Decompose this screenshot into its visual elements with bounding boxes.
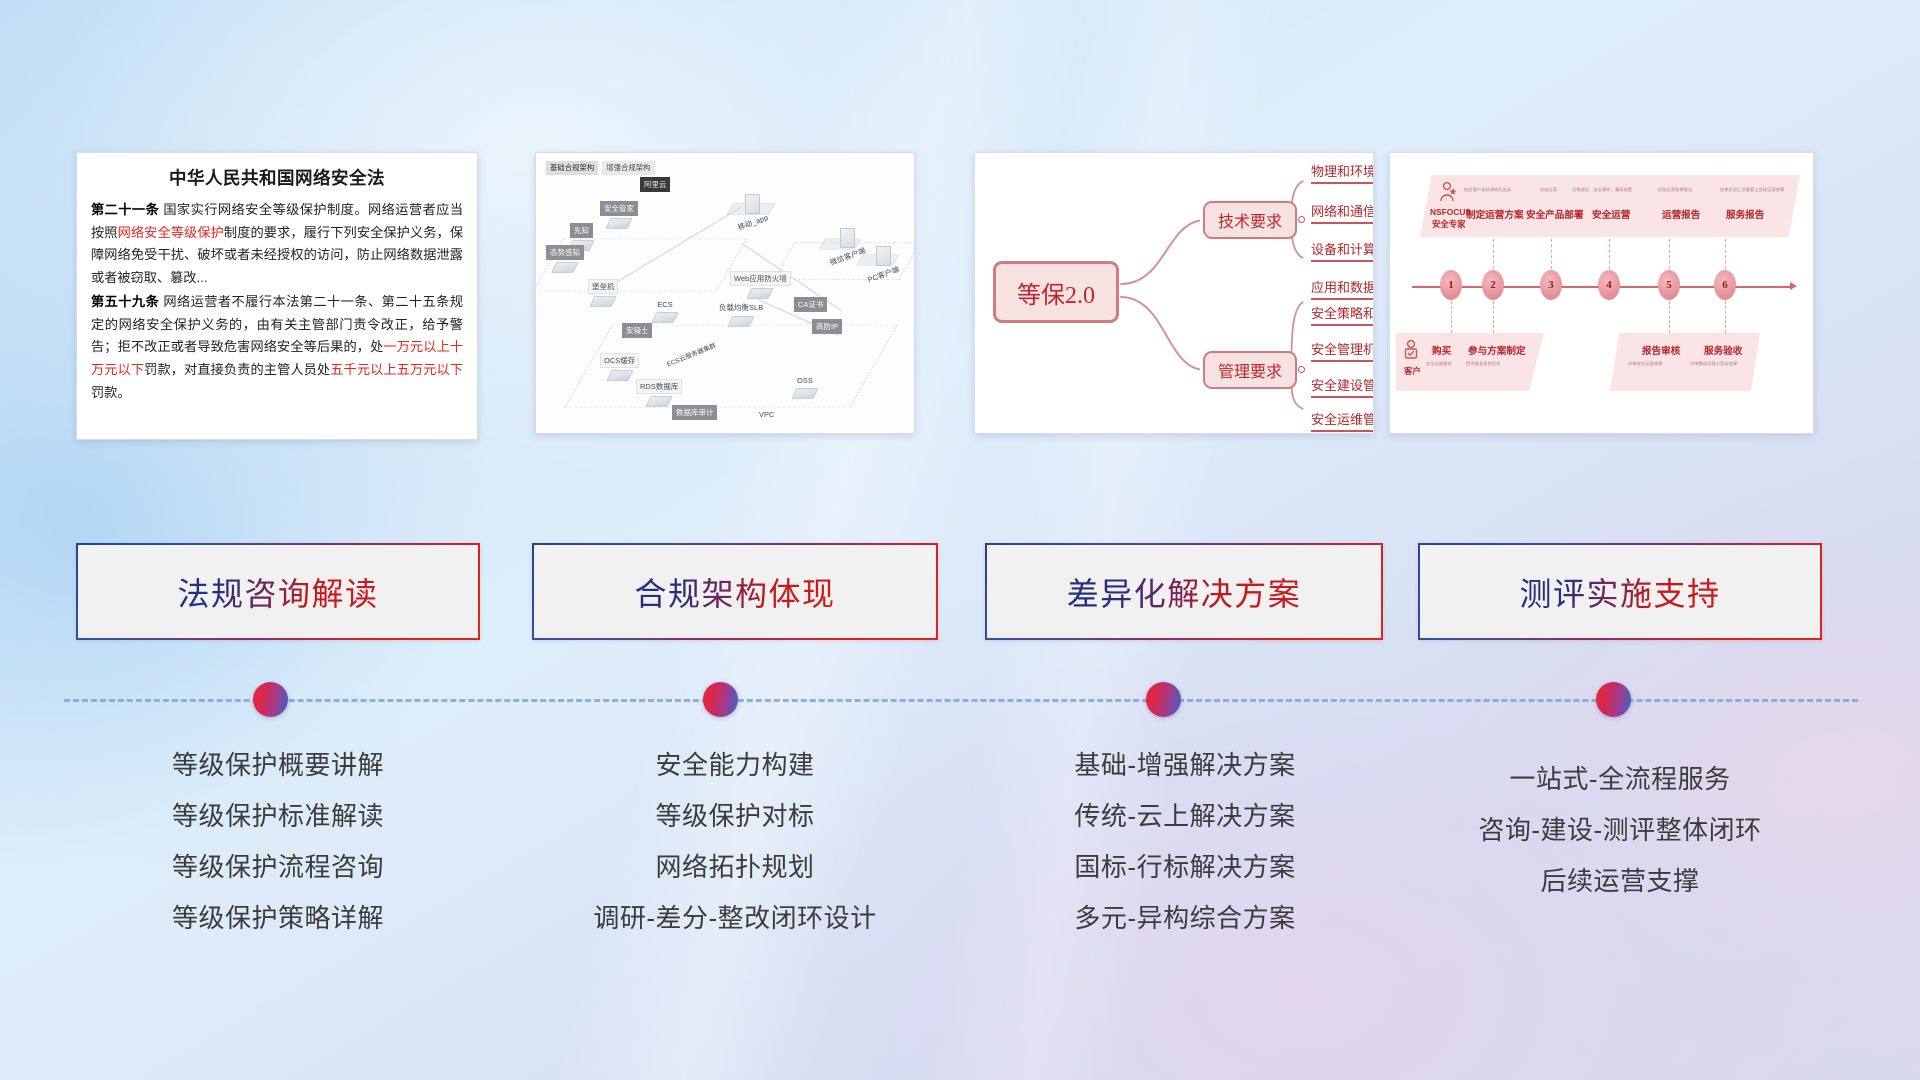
heading-label-2: 合规架构体现 <box>634 569 835 615</box>
nsfocus-step-sub-5-bottom: 评审安全运营效果 <box>1628 361 1662 367</box>
card-cybersecurity-law[interactable]: 中华人民共和国网络安全法 第二十一条 国家实行网络安全等级保护制度。网络运营者应… <box>76 152 478 440</box>
heading-box-differentiated-solution[interactable]: 差异化解决方案 <box>985 543 1383 640</box>
arch-label-aliyun: 阿里云 <box>640 177 670 192</box>
arch-label-waf: Web应用防火墙 <box>730 271 791 286</box>
nsfocus-step-sub-6-bottom: 评审整体运营方案及效果 <box>1690 361 1737 367</box>
arch-node-ecs-cluster: ECS云服务器集群 <box>662 349 720 360</box>
nsfocus-step-title-5-bottom: 报告审核 <box>1642 343 1680 357</box>
list-item: 等级保护标准解读 <box>68 791 488 842</box>
nsfocus-step-title-6-bottom: 服务验收 <box>1704 343 1742 357</box>
heading-box-regulation-consulting[interactable]: 法规咨询解读 <box>76 543 480 640</box>
arch-node-db-audit: 数据库审计 <box>672 405 717 420</box>
arch-node-anqishi: 安骑士 <box>622 323 652 338</box>
arch-label-situation-awareness: 态势感知 <box>546 245 584 260</box>
nsfocus-step-title-1-bottom: 购买 <box>1432 343 1451 357</box>
customer-avatar-icon <box>1402 339 1422 363</box>
expert-avatar-icon <box>1438 181 1458 203</box>
mindmap-leaf-tech-1: 物理和环境安全 <box>1311 161 1374 184</box>
law-paragraph-59: 第五十九条 网络运营者不履行本法第二十一条、第二十五条规定的网络安全保护义务的，… <box>91 291 463 405</box>
timeline-dot-4[interactable] <box>1596 682 1631 717</box>
law-seg-59-4: 罚款。 <box>91 385 131 400</box>
list-item: 调研-差分-整改闭环设计 <box>530 893 940 944</box>
nsfocus-provider-name: NSFOCUS <box>1430 207 1471 217</box>
cube-icon <box>728 316 755 327</box>
arch-node-waf: Web应用防火墙 <box>730 271 791 300</box>
nsfocus-tick-5-bottom <box>1669 301 1670 333</box>
nsfocus-timeline-diagram: NSFOCUS 安全专家 客户 结合客户现状调研后出具 制定运营方案 实施方案 … <box>1390 153 1813 433</box>
arch-node-pc-client: PC客户端 <box>864 245 903 281</box>
law-card-content: 中华人民共和国网络安全法 第二十一条 国家实行网络安全等级保护制度。网络运营者应… <box>77 153 477 413</box>
list-item: 等级保护对标 <box>530 791 940 842</box>
slide-canvas: 中华人民共和国网络安全法 第二十一条 国家实行网络安全等级保护制度。网络运营者应… <box>0 0 1920 1080</box>
nsfocus-step-marker-5[interactable]: 5 <box>1658 270 1680 300</box>
arch-node-security-butler: 安全管家 <box>600 201 638 230</box>
feature-list-compliance-architecture: 安全能力构建 等级保护对标 网络拓扑规划 调研-差分-整改闭环设计 <box>530 740 940 944</box>
list-item: 传统-云上解决方案 <box>980 791 1390 842</box>
arch-node-mobile-app: 移动_app <box>734 193 772 229</box>
architecture-diagram: 基础合规架构 增强合规架构 <box>536 153 914 433</box>
server-icon <box>745 194 760 214</box>
list-item: 网络拓扑规划 <box>530 842 940 893</box>
progress-timeline <box>0 682 1920 742</box>
arch-label-xianzhi: 先知 <box>570 223 593 238</box>
nsfocus-step-sub-5-top: 阶段运营效果报告 <box>1658 187 1692 193</box>
arch-node-rds: RDS数据库 <box>636 379 682 408</box>
nsfocus-step-title-2-bottom: 参与方案制定 <box>1468 343 1526 357</box>
timeline-dot-1[interactable] <box>253 682 288 717</box>
arch-label-oss: OSS <box>794 375 816 386</box>
mindmap-leaf-tech-3: 设备和计算安全 <box>1311 239 1374 262</box>
cube-icon <box>590 296 617 307</box>
nsfocus-step-title-5-top: 运营报告 <box>1662 207 1700 221</box>
feature-list-assessment-support: 一站式-全流程服务 咨询-建设-测评整体闭环 后续运营支撑 <box>1410 754 1830 907</box>
list-item: 咨询-建设-测评整体闭环 <box>1410 805 1830 856</box>
arch-node-bastion: 堡垒机 <box>588 279 618 308</box>
timeline-dashed-line <box>64 699 1858 702</box>
arch-node-anti-ddos-ip: 高防IP <box>812 319 842 334</box>
mindmap-collapse-dot-technical[interactable] <box>1298 216 1305 223</box>
heading-label-4: 测评实施支持 <box>1519 569 1720 615</box>
arch-node-ocs-cache: OCS缓存 <box>600 353 639 382</box>
reference-cards-row: 中华人民共和国网络安全法 第二十一条 国家实行网络安全等级保护制度。网络运营者应… <box>0 152 1920 442</box>
mindmap-root: 等保2.0 <box>993 261 1119 323</box>
arch-label-anqishi: 安骑士 <box>622 323 652 338</box>
card-compliance-architecture[interactable]: 基础合规架构 增强合规架构 <box>535 152 915 434</box>
mindmap-leaf-mgmt-3: 安全建设管理 <box>1311 375 1374 398</box>
arch-label-security-butler: 安全管家 <box>600 201 638 216</box>
law-body: 第二十一条 国家实行网络安全等级保护制度。网络运营者应当按照网络安全等级保护制度… <box>91 199 463 404</box>
server-icon <box>840 228 855 248</box>
nsfocus-tick-1-bottom <box>1451 301 1452 333</box>
list-item: 一站式-全流程服务 <box>1410 754 1830 805</box>
law-article-number-59: 第五十九条 <box>91 294 159 309</box>
arch-label-ca-cert: CA证书 <box>794 297 827 312</box>
nsfocus-provider-role: 安全专家 <box>1432 218 1466 230</box>
card-dengbao-mindmap[interactable]: 等保2.0 技术要求 物理和环境安全 网络和通信安全 设备和计算安全 应用和数据… <box>974 152 1374 434</box>
list-item: 等级保护流程咨询 <box>68 842 488 893</box>
mindmap-leaf-mgmt-4: 安全运维管理 <box>1311 409 1374 432</box>
feature-list-regulation-consulting: 等级保护概要讲解 等级保护标准解读 等级保护流程咨询 等级保护策略详解 <box>68 740 488 944</box>
mindmap-collapse-dot-management[interactable] <box>1298 366 1305 373</box>
arch-label-rds: RDS数据库 <box>636 379 682 394</box>
cube-icon <box>606 370 633 381</box>
heading-label-3: 差异化解决方案 <box>1067 569 1302 615</box>
law-seg-21-1-highlight: 网络安全等级保护 <box>118 225 224 240</box>
nsfocus-step-title-4: 安全运营 <box>1592 207 1630 221</box>
arch-node-oss: OSS <box>794 375 816 400</box>
arch-node-vpc: VPC <box>756 409 778 420</box>
law-paragraph-21: 第二十一条 国家实行网络安全等级保护制度。网络运营者应当按照网络安全等级保护制度… <box>91 199 463 290</box>
nsfocus-customer-label: 客户 <box>1404 365 1421 377</box>
law-title: 中华人民共和国网络安全法 <box>91 165 463 190</box>
list-item: 等级保护策略详解 <box>68 893 488 944</box>
list-item: 国标-行标解决方案 <box>980 842 1390 893</box>
arch-node-situation-awareness: 态势感知 <box>546 245 584 274</box>
feature-lists-row: 等级保护概要讲解 等级保护标准解读 等级保护流程咨询 等级保护策略详解 安全能力… <box>0 740 1920 970</box>
list-item: 基础-增强解决方案 <box>980 740 1390 791</box>
cube-icon <box>605 218 632 229</box>
architecture-canvas: 阿里云 安全管家 先知 态势感知 堡垒机 <box>544 171 906 425</box>
nsfocus-step-sub-4: 日常巡检、安全事件、漏洞处置 <box>1572 187 1632 193</box>
cube-icon <box>747 288 774 299</box>
arch-label-vpc: VPC <box>756 409 778 420</box>
feature-list-differentiated-solution: 基础-增强解决方案 传统-云上解决方案 国标-行标解决方案 多元-异构综合方案 <box>980 740 1390 944</box>
heading-label-1: 法规咨询解读 <box>177 569 378 615</box>
nsfocus-step-title-3: 安全产品部署 <box>1526 207 1584 221</box>
arch-label-anti-ddos-ip: 高防IP <box>812 319 842 334</box>
list-item: 安全能力构建 <box>530 740 940 791</box>
list-item: 等级保护概要讲解 <box>68 740 488 791</box>
nsfocus-tick-6-bottom <box>1725 301 1726 333</box>
arch-label-slb: 负载均衡SLB <box>716 301 766 314</box>
section-headings-row: 法规咨询解读 合规架构体现 差异化解决方案 测评实施支持 <box>0 543 1920 643</box>
cube-icon <box>791 388 818 399</box>
law-article-number-21: 第二十一条 <box>91 202 159 217</box>
mindmap-leaf-mgmt-1: 安全策略和管理制度 <box>1311 303 1374 326</box>
nsfocus-provider-band <box>1420 175 1800 237</box>
arch-label-bastion: 堡垒机 <box>588 279 618 294</box>
nsfocus-step-sub-2-top: 结合客户现状调研后出具 <box>1464 187 1511 193</box>
arch-node-slb: 负载均衡SLB <box>716 301 766 328</box>
nsfocus-step-sub-3: 实施方案 <box>1540 187 1557 193</box>
cube-icon <box>651 312 678 323</box>
nsfocus-axis-arrow-icon <box>1790 282 1797 290</box>
list-item: 多元-异构综合方案 <box>980 893 1390 944</box>
arch-node-aliyun: 阿里云 <box>640 177 670 192</box>
law-seg-59-2: 罚款，对直接负责的主管人员处 <box>144 362 330 377</box>
nsfocus-step-marker-4[interactable]: 4 <box>1598 270 1620 300</box>
arch-node-ecs: ECS <box>654 299 676 324</box>
arch-label-ocs-cache: OCS缓存 <box>600 353 639 368</box>
arch-label-db-audit: 数据库审计 <box>672 405 717 420</box>
list-item: 后续运营支撑 <box>1410 856 1830 907</box>
arch-node-ca-cert: CA证书 <box>794 297 827 312</box>
nsfocus-step-sub-2-bottom: 提供基本现状信息 <box>1466 361 1500 367</box>
nsfocus-step-marker-1[interactable]: 1 <box>1440 270 1462 300</box>
mindmap-branch-management: 管理要求 <box>1203 351 1297 389</box>
cube-icon <box>551 262 578 273</box>
nsfocus-step-sub-1-bottom: 安全运维服务 <box>1426 361 1452 367</box>
nsfocus-step-marker-2[interactable]: 2 <box>1482 270 1504 300</box>
arch-node-wechat-client: 微信客户端 <box>826 227 869 263</box>
mindmap-diagram: 等保2.0 技术要求 物理和环境安全 网络和通信安全 设备和计算安全 应用和数据… <box>975 153 1373 433</box>
nsfocus-step-title-6-top: 服务报告 <box>1726 207 1764 221</box>
nsfocus-tick-6 <box>1725 239 1726 269</box>
nsfocus-tick-2 <box>1493 239 1494 269</box>
nsfocus-tick-5 <box>1669 239 1670 269</box>
mindmap-leaf-tech-4: 应用和数据安全 <box>1311 277 1374 300</box>
timeline-dot-3[interactable] <box>1146 682 1181 717</box>
server-icon <box>876 246 891 266</box>
cube-icon <box>646 396 673 407</box>
nsfocus-step-title-2-top: 制定运营方案 <box>1466 207 1524 221</box>
nsfocus-tick-3 <box>1551 239 1552 269</box>
card-nsfocus-service-timeline[interactable]: NSFOCUS 安全专家 客户 结合客户现状调研后出具 制定运营方案 实施方案 … <box>1389 152 1814 434</box>
timeline-dot-2[interactable] <box>703 682 738 717</box>
mindmap-leaf-mgmt-2: 安全管理机构和人员 <box>1311 339 1374 362</box>
law-seg-59-3-highlight: 五千元以上五万元以下 <box>330 362 463 377</box>
heading-box-assessment-support[interactable]: 测评实施支持 <box>1418 543 1822 640</box>
nsfocus-step-marker-3[interactable]: 3 <box>1540 270 1562 300</box>
arch-label-ecs: ECS <box>654 299 676 310</box>
mindmap-branch-technical: 技术要求 <box>1203 201 1297 239</box>
heading-box-compliance-architecture[interactable]: 合规架构体现 <box>532 543 938 640</box>
nsfocus-step-marker-6[interactable]: 6 <box>1714 270 1736 300</box>
nsfocus-tick-2-bottom <box>1493 301 1494 333</box>
nsfocus-step-sub-6-top: 结束阶段汇总需要上述体运营效果 <box>1720 187 1784 193</box>
mindmap-leaf-tech-2: 网络和通信安全 <box>1311 201 1374 224</box>
nsfocus-tick-4 <box>1609 239 1610 269</box>
